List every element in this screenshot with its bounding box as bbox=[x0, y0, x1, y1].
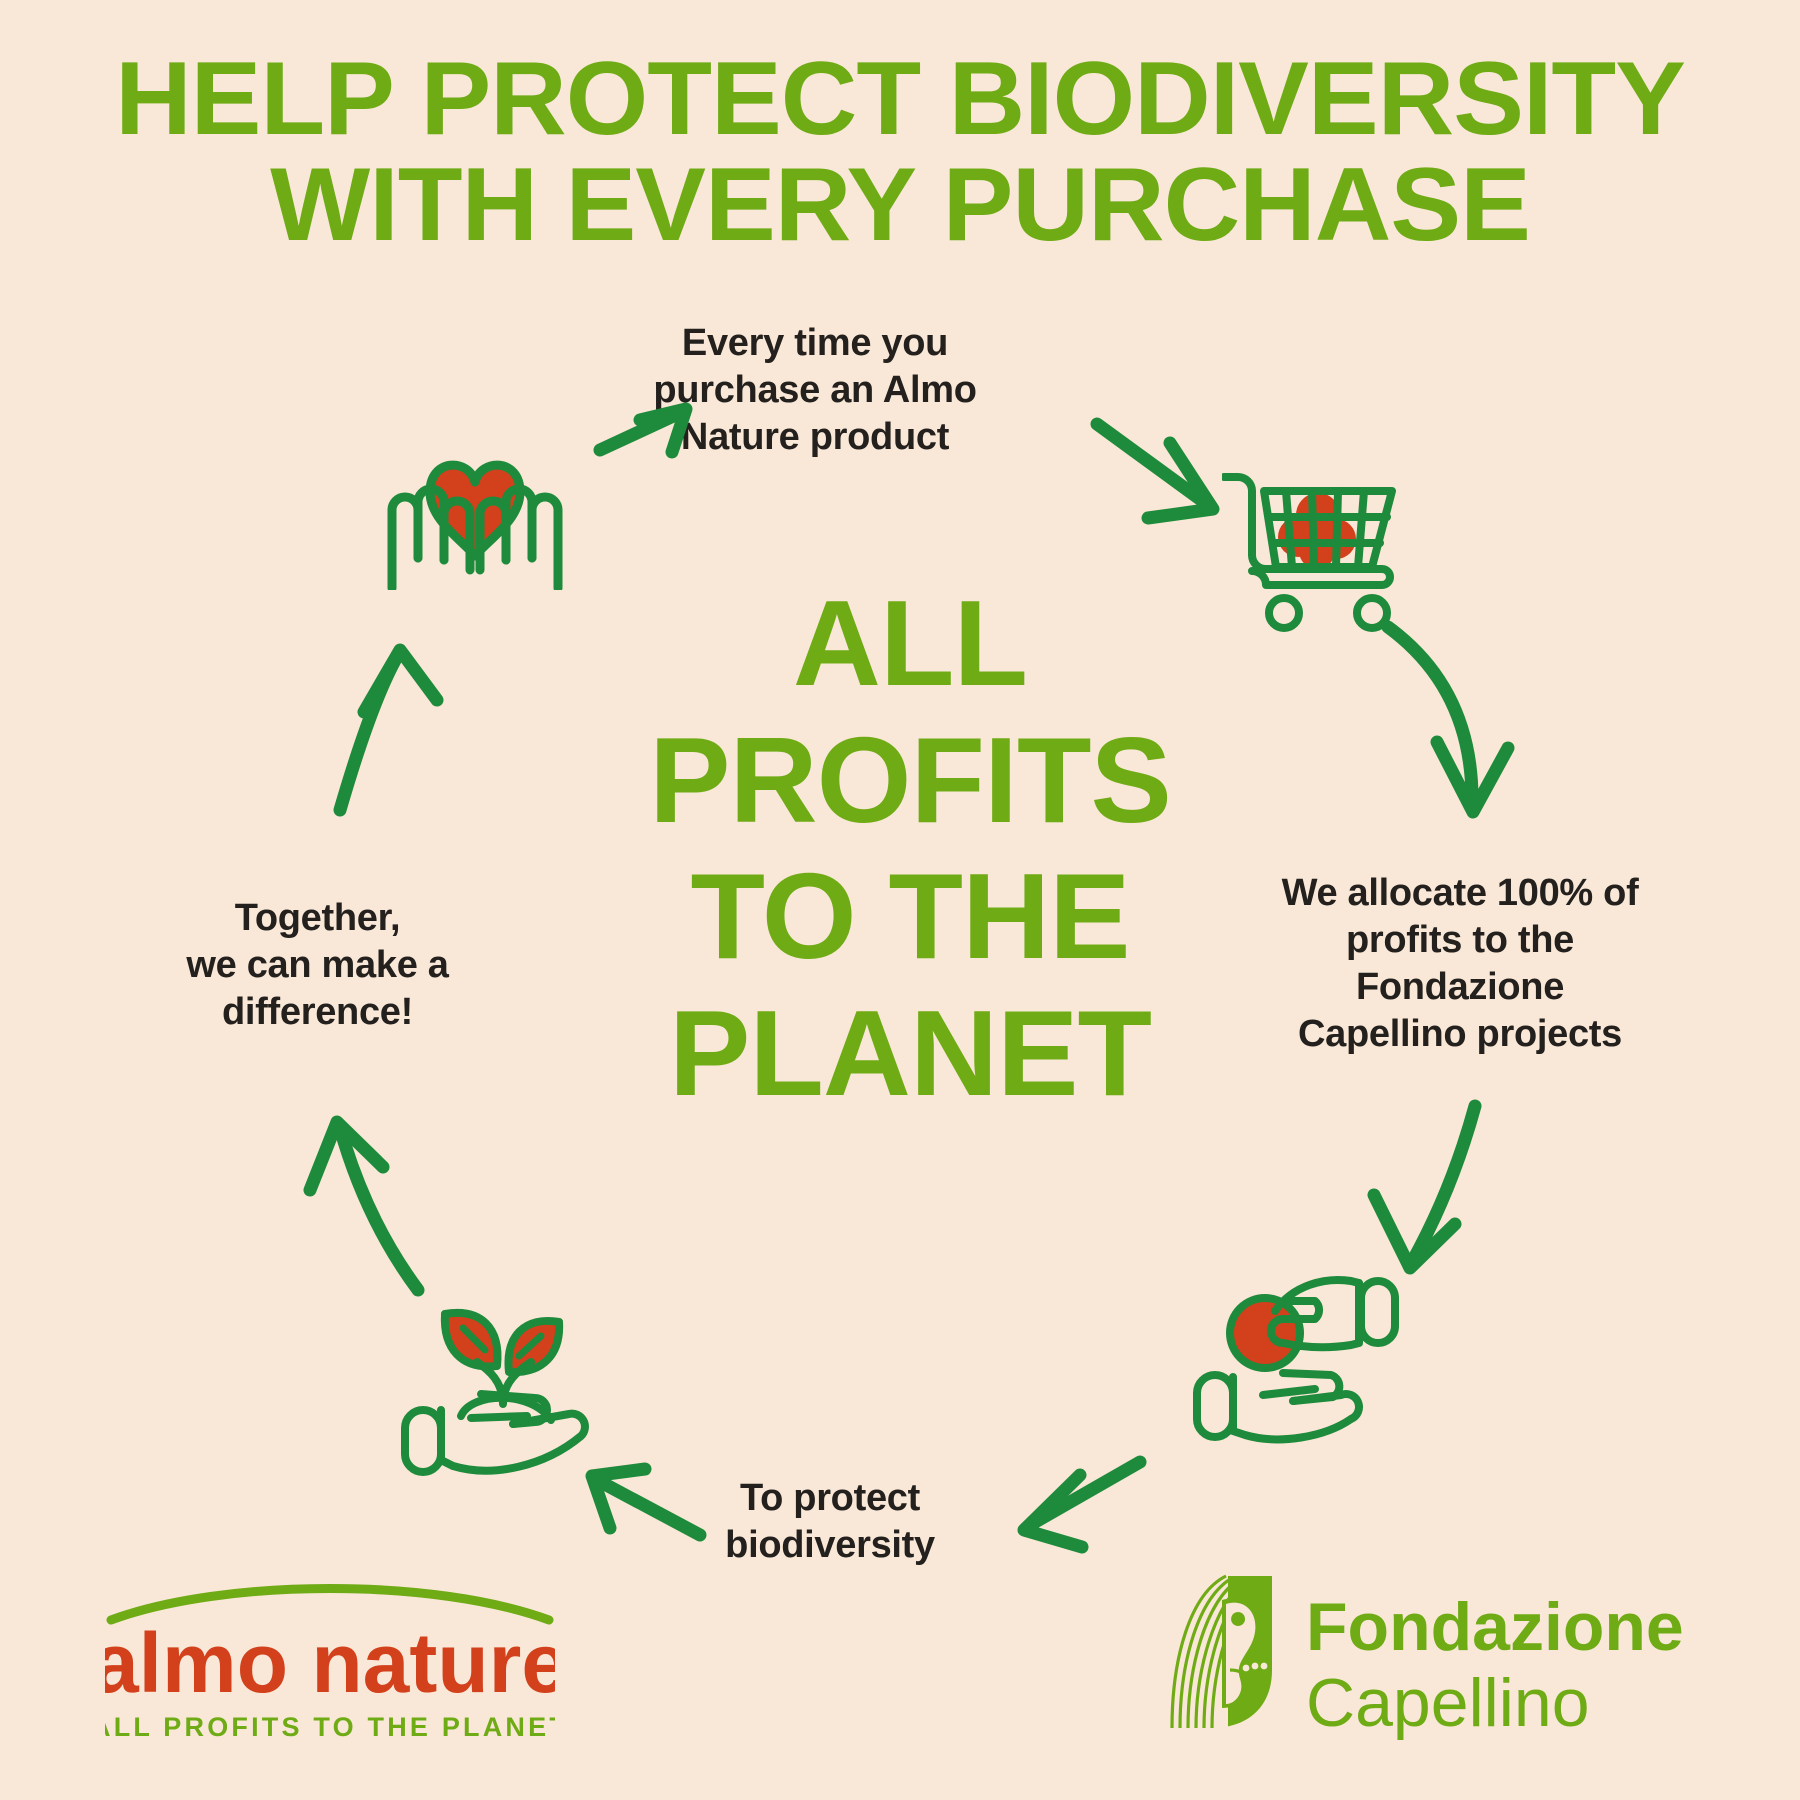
arrow-coinhands-to-protect bbox=[1024, 1462, 1140, 1547]
hands-holding-heart-icon bbox=[370, 410, 580, 590]
fondazione-capellino-logo: Fondazione Capellino bbox=[1160, 1570, 1700, 1755]
almo-nature-logo: almo nature ALL PROFITS TO THE PLANET bbox=[105, 1580, 555, 1760]
arrow-allocate-to-coinhands bbox=[1374, 1106, 1475, 1268]
arrow-heart-to-purchase bbox=[600, 409, 686, 452]
fc-line1: Fondazione bbox=[1306, 1589, 1684, 1665]
coin-handoff-icon bbox=[1175, 1255, 1415, 1455]
shopping-cart-icon bbox=[1222, 455, 1422, 635]
almo-wordmark: almo nature bbox=[105, 1616, 555, 1710]
almo-tagline: ALL PROFITS TO THE PLANET bbox=[105, 1712, 555, 1742]
poster-canvas: HELP PROTECT BIODIVERSITY WITH EVERY PUR… bbox=[0, 0, 1800, 1800]
cycle-arrows bbox=[0, 0, 1800, 1800]
arrow-together-to-heart bbox=[340, 650, 437, 810]
fc-crest-icon bbox=[1166, 1576, 1272, 1728]
sprout-in-hand-icon bbox=[385, 1270, 615, 1485]
arrow-purchase-to-cart bbox=[1097, 424, 1213, 518]
arrow-sprouthand-to-together bbox=[310, 1122, 418, 1290]
fc-line2: Capellino bbox=[1306, 1665, 1590, 1741]
arrow-cart-to-allocate bbox=[1388, 627, 1508, 812]
